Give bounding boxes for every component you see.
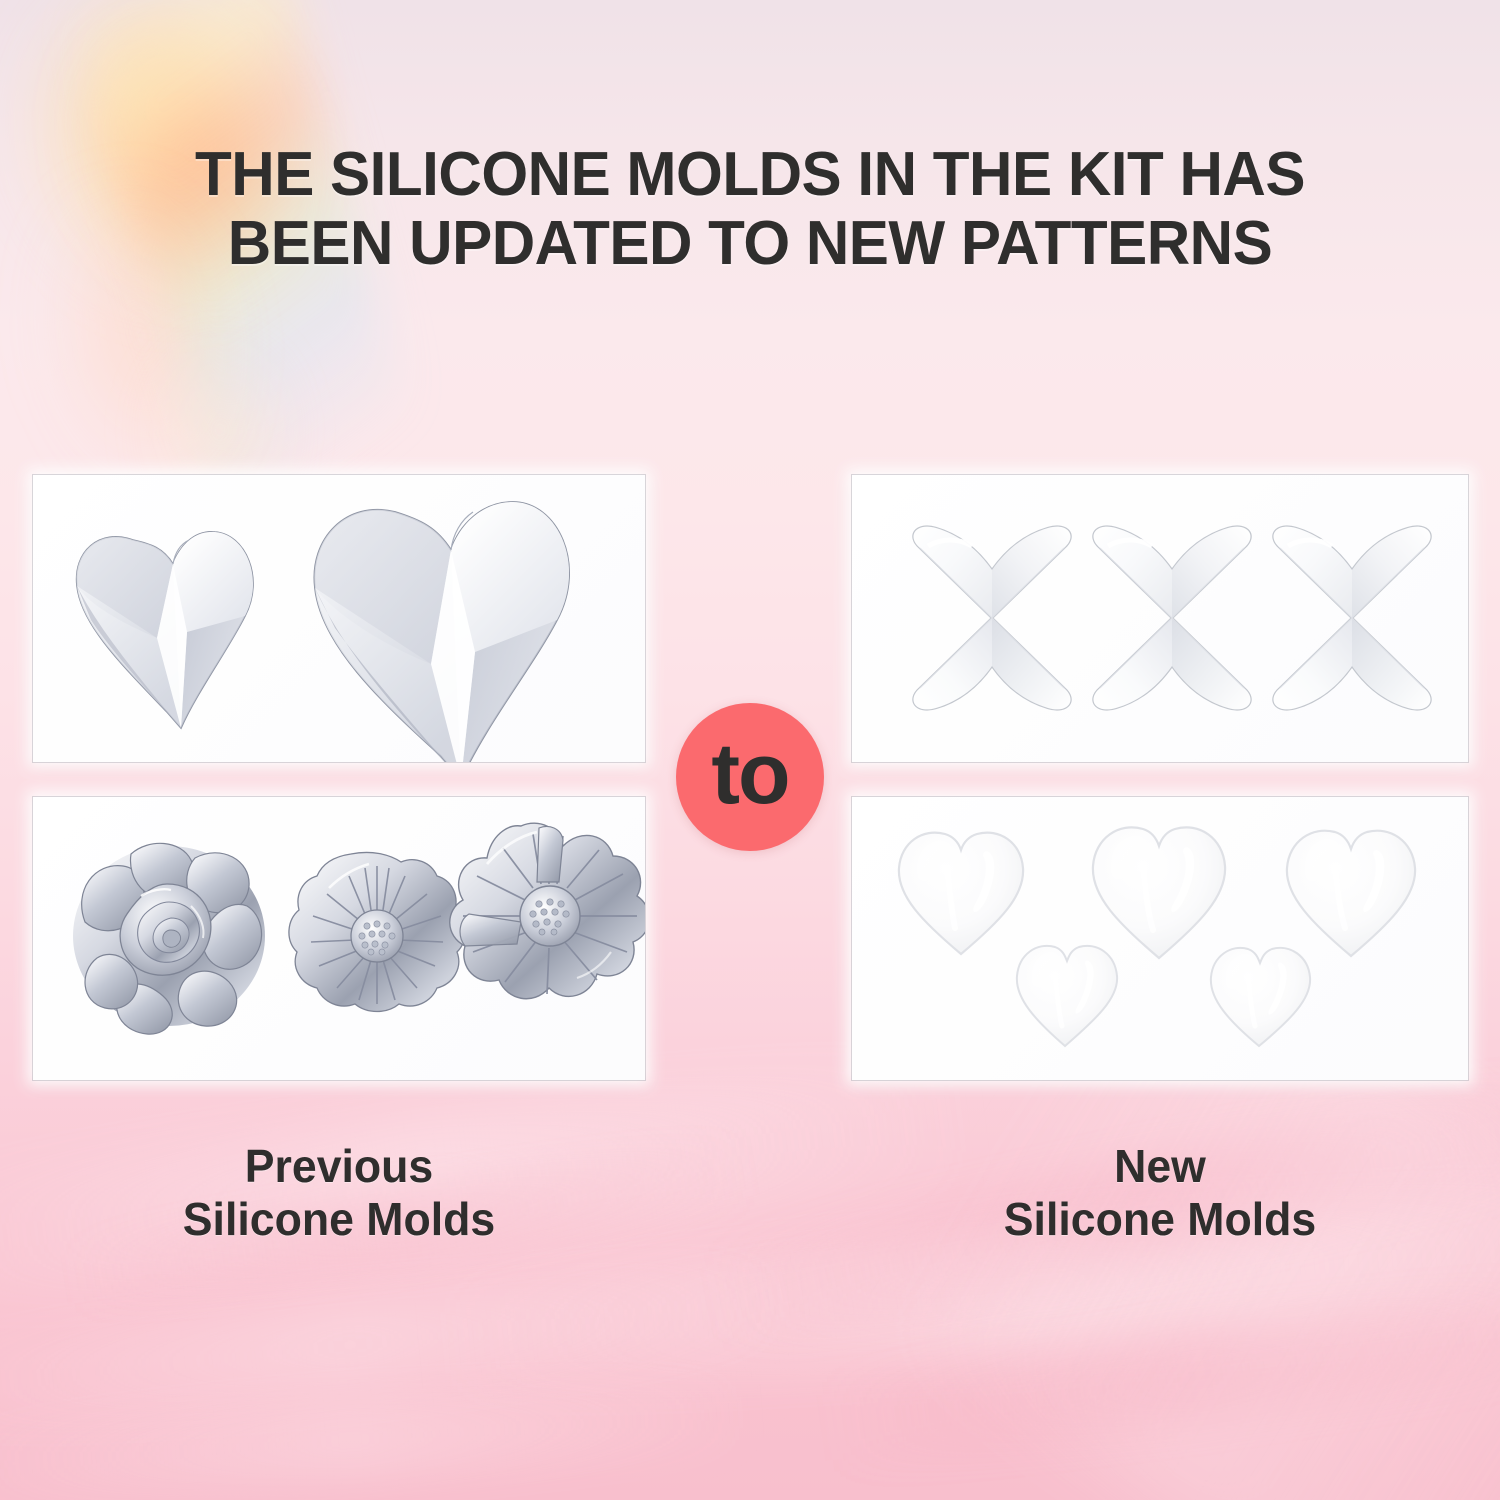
mold-row <box>852 475 1468 762</box>
caption-previous-silicone-molds: Previous Silicone Molds <box>42 1140 636 1247</box>
daisy-flower-mold <box>289 852 465 1011</box>
puffy-heart-3 <box>1287 830 1415 955</box>
faceted-heart-small <box>77 531 253 727</box>
puffy-heart-2 <box>1093 827 1225 958</box>
faceted-heart-group <box>59 494 619 744</box>
mold-row <box>33 475 645 762</box>
mold-row <box>33 797 645 1080</box>
puffy-heart-group <box>875 814 1445 1064</box>
headline-line-2: BEEN UPDATED TO NEW PATTERNS <box>23 209 1478 278</box>
cosmos-flower-mold <box>450 823 645 999</box>
headline: THE SILICONE MOLDS IN THE KIT HAS BEEN U… <box>23 140 1478 279</box>
product-infographic: THE SILICONE MOLDS IN THE KIT HAS BEEN U… <box>0 0 1500 1500</box>
rose-flower-mold <box>73 843 265 1034</box>
to-badge-label: to <box>711 731 788 817</box>
flower-mold-group <box>59 814 619 1064</box>
mold-row <box>852 797 1468 1080</box>
butterfly-mold-3 <box>1273 526 1430 709</box>
butterfly-mold-group <box>880 514 1440 724</box>
caption-new-silicone-molds: New Silicone Molds <box>861 1140 1459 1247</box>
caption-new-line-1: New <box>861 1140 1459 1193</box>
puffy-heart-1 <box>899 832 1023 953</box>
panel-new-heart-molds <box>852 797 1468 1080</box>
panel-previous-flower-molds <box>33 797 645 1080</box>
caption-previous-line-1: Previous <box>42 1140 636 1193</box>
caption-previous-line-2: Silicone Molds <box>42 1193 636 1246</box>
to-transition-badge: to <box>676 703 824 851</box>
headline-line-1: THE SILICONE MOLDS IN THE KIT HAS <box>23 140 1478 209</box>
panel-new-butterfly-molds <box>852 475 1468 762</box>
puffy-heart-4 <box>1017 945 1117 1045</box>
butterfly-mold-2 <box>1093 526 1250 709</box>
puffy-heart-5 <box>1211 947 1310 1045</box>
butterfly-mold-1 <box>913 526 1070 709</box>
faceted-heart-large <box>314 502 569 763</box>
panel-previous-heart-molds <box>33 475 645 762</box>
caption-new-line-2: Silicone Molds <box>861 1193 1459 1246</box>
